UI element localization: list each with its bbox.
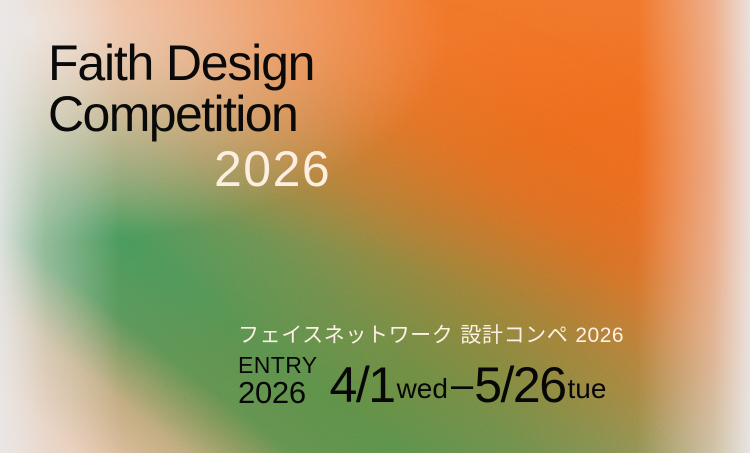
- entry-label: ENTRY: [238, 353, 318, 377]
- poster-canvas: Faith Design Competition 2026 フェイスネットワーク…: [0, 0, 750, 453]
- entry-start-day-of-week: wed: [397, 369, 448, 411]
- entry-year: 2026: [238, 377, 306, 409]
- entry-end-date: 5/26: [474, 360, 565, 411]
- entry-start-date: 4/1: [330, 360, 395, 411]
- entry-date-separator: –: [451, 363, 473, 411]
- headline-year: 2026: [214, 143, 708, 195]
- entry-period: ENTRY 2026 4/1 wed – 5/26 tue: [238, 353, 712, 411]
- poster-headline: Faith Design Competition 2026: [48, 38, 708, 195]
- poster-content: Faith Design Competition 2026 フェイスネットワーク…: [0, 0, 750, 453]
- entry-label-stack: ENTRY 2026: [238, 353, 318, 411]
- japanese-subtitle: フェイスネットワーク設計コンペ2026: [238, 323, 712, 349]
- subtitle-event: 設計コンペ: [460, 324, 568, 347]
- subtitle-organization: フェイスネットワーク: [238, 324, 453, 347]
- headline-line-2: Competition: [48, 89, 708, 140]
- entry-end-day-of-week: tue: [568, 369, 607, 411]
- poster-footer: フェイスネットワーク設計コンペ2026 ENTRY 2026 4/1 wed –…: [238, 323, 712, 411]
- subtitle-year: 2026: [575, 324, 624, 347]
- headline-line-1: Faith Design: [48, 38, 708, 89]
